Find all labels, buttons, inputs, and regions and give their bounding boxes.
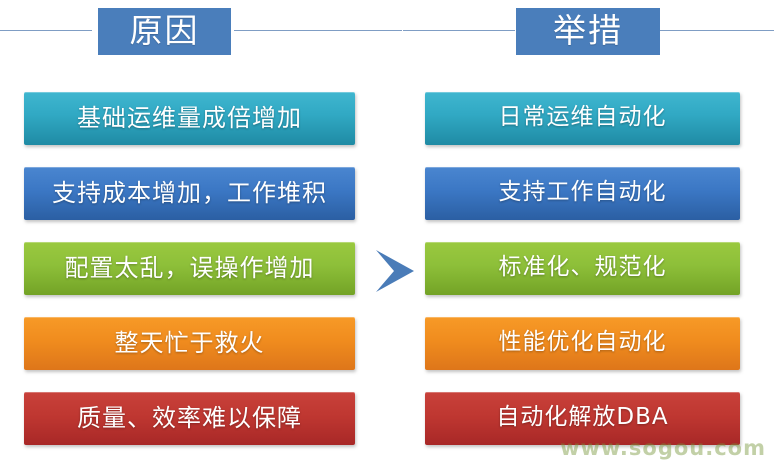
right-chevron-arrow-icon xyxy=(362,240,424,302)
cause-bar-3[interactable]: 配置太乱，误操作增加 xyxy=(24,242,355,295)
cause-bar-4[interactable]: 整天忙于救火 xyxy=(24,317,355,370)
cause-bar-1[interactable]: 基础运维量成倍增加 xyxy=(24,92,355,145)
header-badge-measure: 举措 xyxy=(516,8,660,55)
measure-bar-5[interactable]: 自动化解放DBA xyxy=(425,392,740,445)
cause-bar-5-label: 质量、效率难以保障 xyxy=(77,406,302,430)
measure-bar-3[interactable]: 标准化、规范化 xyxy=(425,242,740,295)
cause-bar-2[interactable]: 支持成本增加，工作堆积 xyxy=(24,167,355,220)
cause-bar-5[interactable]: 质量、效率难以保障 xyxy=(24,392,355,445)
measure-bar-2[interactable]: 支持工作自动化 xyxy=(425,167,740,220)
header-rule-mid-b xyxy=(403,30,515,31)
header-rule-left xyxy=(0,30,92,31)
cause-bar-4-label: 整天忙于救火 xyxy=(115,331,265,355)
cause-bar-3-label: 配置太乱，误操作增加 xyxy=(65,256,315,280)
measure-bar-3-label: 标准化、规范化 xyxy=(499,256,667,279)
header-rule-mid-a xyxy=(234,30,402,31)
measure-bar-1[interactable]: 日常运维自动化 xyxy=(425,92,740,145)
column-measure: 日常运维自动化 支持工作自动化 标准化、规范化 性能优化自动化 自动化解放DBA xyxy=(425,92,740,445)
header-label-cause: 原因 xyxy=(130,14,200,47)
cause-bar-2-label: 支持成本增加，工作堆积 xyxy=(52,181,327,205)
header-rule-right xyxy=(660,30,774,31)
measure-bar-1-label: 日常运维自动化 xyxy=(499,106,667,129)
header-badge-cause: 原因 xyxy=(98,8,231,55)
header-row: 原因 举措 xyxy=(0,0,774,72)
measure-bar-4[interactable]: 性能优化自动化 xyxy=(425,317,740,370)
header-label-measure: 举措 xyxy=(553,14,623,47)
slide-canvas: 原因 举措 基础运维量成倍增加 支持成本增加，工作堆积 配置太乱，误操作增加 整… xyxy=(0,0,774,462)
cause-bar-1-label: 基础运维量成倍增加 xyxy=(77,106,302,130)
measure-bar-2-label: 支持工作自动化 xyxy=(499,181,667,204)
measure-bar-4-label: 性能优化自动化 xyxy=(499,331,667,354)
measure-bar-5-label: 自动化解放DBA xyxy=(496,406,668,429)
column-cause: 基础运维量成倍增加 支持成本增加，工作堆积 配置太乱，误操作增加 整天忙于救火 … xyxy=(24,92,355,445)
